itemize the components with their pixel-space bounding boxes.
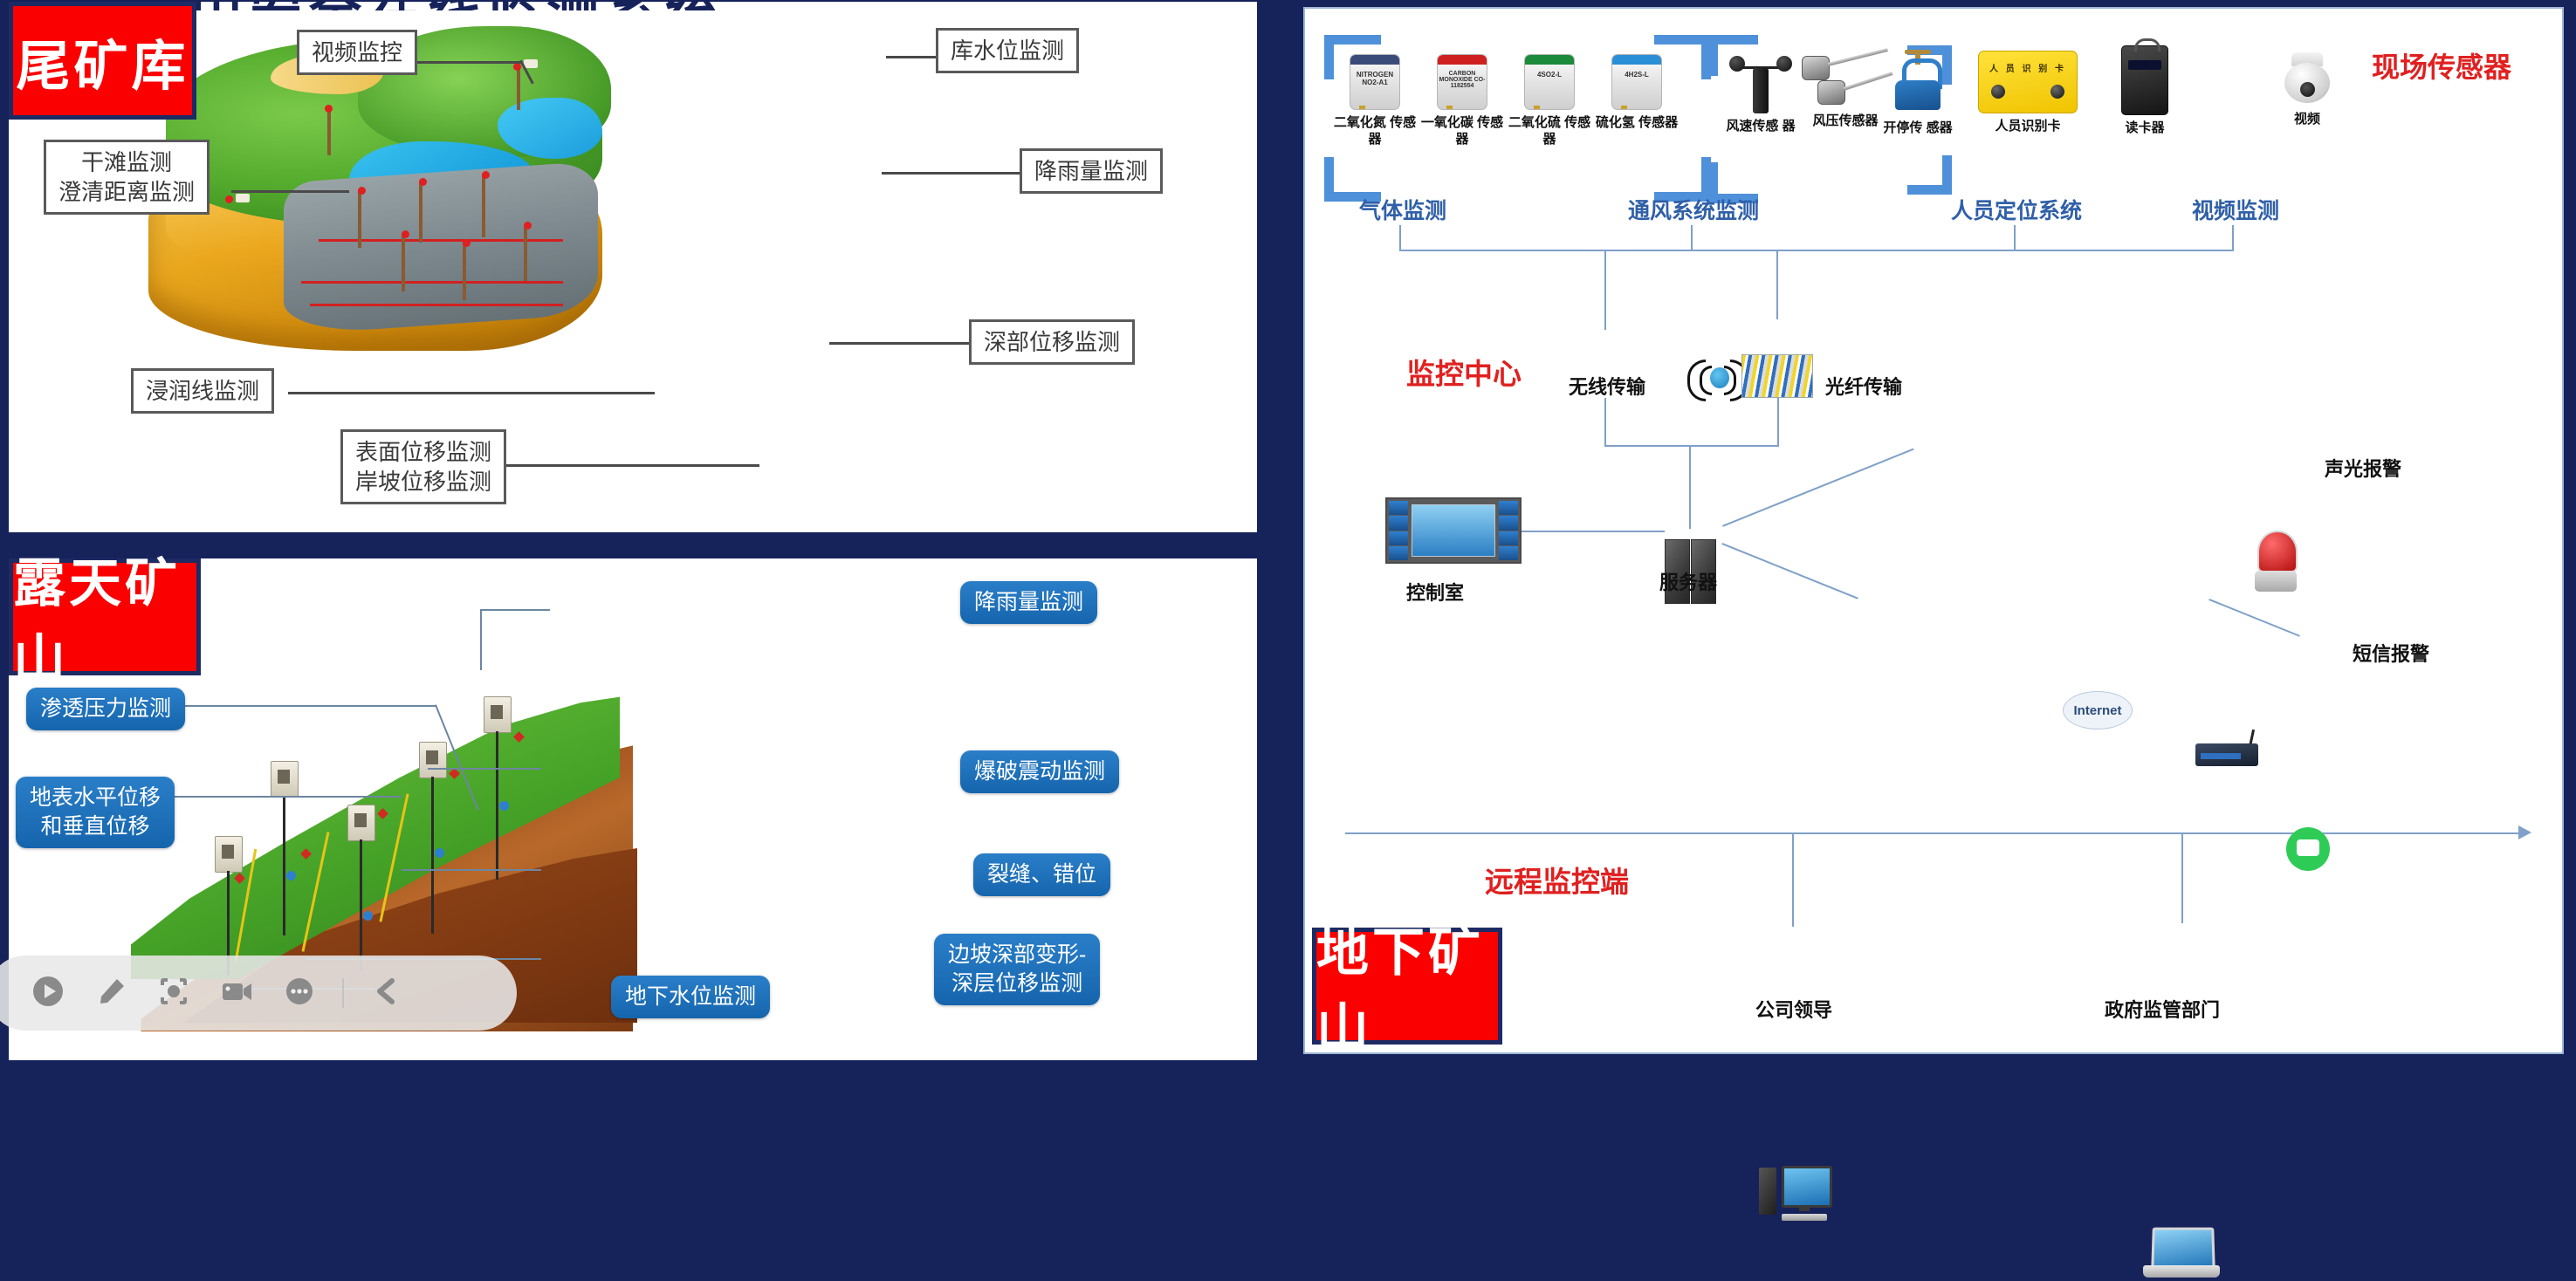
personnel-id-card-icon: 人 员 识 别 卡: [1978, 51, 2078, 113]
play-icon: [31, 974, 65, 1013]
sensor-co-label: 一氧化碳 传感器: [1417, 114, 1508, 147]
video-camera-sensor: 视频: [2262, 52, 2353, 127]
sensor-so2-label: 二氧化硫 传感器: [1504, 114, 1595, 147]
toolbar-divider: [342, 978, 344, 1008]
drop-to-desktop: [1792, 832, 1794, 927]
remote-bus-arrow: [2518, 825, 2531, 839]
leader-surface-displacement: [498, 464, 759, 467]
card-reader-icon: [2121, 45, 2168, 115]
category-video-monitoring: 视频监测: [2192, 194, 2279, 225]
label-deep-displacement: 深部位移监测: [969, 319, 1135, 365]
junction-h: [1604, 445, 1779, 447]
video-button[interactable]: [216, 973, 257, 1013]
category-ventilation: 通风系统监测: [1628, 194, 1759, 225]
audible-visual-alarm-label: 声光报警: [2325, 454, 2401, 482]
company-leader-label: 公司领导: [1755, 995, 1832, 1023]
leader-crack-h: [402, 869, 541, 871]
internet-cloud-icon[interactable]: Internet: [2063, 691, 2133, 730]
wireless-down: [1604, 398, 1606, 445]
label-seepage-pressure: 渗透压力监测: [26, 688, 185, 730]
drop-to-laptop: [2181, 832, 2183, 923]
label-saturation-line: 浸润线监测: [131, 368, 274, 414]
focus-scan-icon: [156, 974, 191, 1013]
leader-rainfall-op-h: [480, 609, 550, 611]
stem-vent: [1691, 225, 1693, 250]
leader-saturation-line: [288, 392, 655, 394]
stem-personnel: [2014, 225, 2016, 250]
sensor-no2-label: 二氧化氮 传感器: [1329, 114, 1420, 147]
sensor-h2s-label: 硫化氢 传感器: [1591, 114, 1682, 131]
bus-horizontal: [1593, 250, 2234, 251]
sensor-start-stop-label: 开停传 感器: [1872, 120, 1963, 136]
sensor-start-stop: 开停传 感器: [1872, 45, 1963, 136]
share-back-icon: [369, 974, 404, 1013]
cut-off-headline: 矿山安全在线监测系统: [131, 0, 742, 10]
chip-open-pit-mine: 露天矿山: [9, 558, 201, 675]
label-surface-bank-displacement: 表面位移监测 岸坡位移监测: [340, 429, 506, 504]
server-to-alarm-lamp: [1722, 449, 1914, 527]
leader-rainfall: [882, 172, 1026, 175]
sensor-co: CARBON MONOXIDE CO-1182554 一氧化碳 传感器: [1417, 54, 1508, 147]
laptop-icon: [2141, 1227, 2222, 1281]
remote-bus: [1345, 832, 2524, 834]
sensor-no2: NITROGEN NO2-A1 二氧化氮 传感器: [1329, 54, 1420, 147]
leader-surface-disp-h: [166, 796, 402, 798]
no2-sensor-icon: NITROGEN NO2-A1: [1350, 54, 1400, 110]
category-gas-monitoring: 气体监测: [1359, 194, 1446, 225]
label-crack-dislocation: 裂缝、错位: [973, 853, 1110, 896]
label-groundwater-level: 地下水位监测: [611, 976, 770, 1018]
co-sensor-icon: CARBON MONOXIDE CO-1182554: [1437, 54, 1487, 110]
label-slope-deep-deform: 边坡深部变形- 深层位移监测: [934, 934, 1100, 1005]
router-to-sms: [2208, 599, 2300, 637]
fiber-transmission-label: 光纤传输: [1825, 372, 1902, 400]
label-dry-beach-clarification: 干滩监测 澄清距离监测: [44, 140, 210, 215]
label-video-monitor: 视频监控: [297, 30, 417, 75]
government-supervision-label: 政府监管部门: [2105, 995, 2220, 1023]
internet-label: Internet: [2073, 703, 2121, 718]
sms-bubble-icon: [2286, 827, 2330, 871]
more-dots-icon: [282, 974, 317, 1013]
label-surface-displacement: 地表水平位移 和垂直位移: [16, 777, 175, 848]
scan-button[interactable]: [154, 973, 194, 1013]
edit-button[interactable]: [91, 973, 131, 1013]
card-reader-label: 读卡器: [2099, 120, 2190, 136]
server-to-router: [1721, 543, 1858, 599]
label-rainfall-openpit: 降雨量监测: [960, 581, 1097, 624]
alarm-lamp-icon: [2253, 531, 2298, 592]
drop-to-wireless: [1604, 250, 1606, 330]
stem-gas: [1399, 225, 1401, 250]
desktop-computer-icon: [1759, 1166, 1831, 1223]
more-button[interactable]: [279, 973, 319, 1013]
leader-blast-h: [428, 768, 541, 770]
so2-sensor-icon: 4SO2-L: [1524, 54, 1575, 110]
category-personnel-positioning: 人员定位系统: [1951, 194, 2082, 225]
fiber-bundle-icon: [1741, 354, 1813, 398]
leader-deep-displacement: [829, 342, 978, 345]
drop-to-fiber: [1776, 250, 1778, 319]
left-column: 矿山安全在线监测系统: [0, 0, 1292, 1062]
wall-to-server: [1520, 531, 1665, 532]
monitoring-center-title: 监控中心: [1406, 351, 1522, 393]
leader-dry-beach: [231, 190, 349, 193]
right-column: NITROGEN NO2-A1 二氧化氮 传感器 CARBON MONOXIDE…: [1292, 0, 2576, 1062]
label-rainfall: 降雨量监测: [1020, 148, 1163, 194]
control-room-label: 控制室: [1406, 578, 1464, 606]
down-to-server: [1689, 445, 1691, 529]
label-reservoir-water-level: 库水位监测: [936, 28, 1079, 73]
leader-rainfall-op-v: [480, 609, 482, 670]
anemometer-icon: [1729, 45, 1792, 113]
pencil-icon: [93, 974, 128, 1013]
ptz-camera-icon: [2279, 52, 2335, 106]
wireless-transmission-label: 无线传输: [1569, 372, 1645, 400]
bus-left: [1399, 250, 1593, 251]
media-toolbar[interactable]: [0, 956, 517, 1031]
chip-tailings-dam: 尾矿库: [9, 2, 196, 120]
chip-underground-mine: 地下矿山: [1312, 928, 1502, 1045]
bracket-vent-br: [1907, 155, 1952, 195]
label-blast-vibration: 爆破震动监测: [960, 750, 1119, 793]
underground-mine-panel: NITROGEN NO2-A1 二氧化氮 传感器 CARBON MONOXIDE…: [1303, 7, 2564, 1054]
start-stop-sensor-icon: [1890, 45, 1946, 115]
card-reader: 读卡器: [2099, 45, 2190, 136]
fiber-down: [1777, 398, 1779, 447]
personnel-id-card: 人 员 识 别 卡 人员识别卡: [1968, 51, 2087, 134]
field-sensors-title: 现场传感器: [2372, 45, 2511, 86]
video-camera-icon: [219, 974, 254, 1013]
personnel-id-card-label: 人员识别卡: [1968, 118, 2087, 134]
sensor-h2s: 4H2S-L 硫化氢 传感器: [1591, 54, 1682, 131]
leader-seepage-h: [183, 705, 436, 707]
h2s-sensor-icon: 4H2S-L: [1611, 54, 1662, 110]
sms-router-icon: [2195, 731, 2258, 766]
video-camera-label: 视频: [2262, 111, 2353, 127]
server-label: 服务器: [1659, 567, 1717, 595]
stem-video: [2232, 225, 2234, 250]
remote-terminal-title: 远程监控端: [1485, 859, 1629, 901]
video-wall-icon: [1385, 497, 1522, 564]
sms-alarm-label: 短信报警: [2353, 639, 2429, 667]
sensor-so2: 4SO2-L 二氧化硫 传感器: [1504, 54, 1595, 147]
share-button[interactable]: [367, 973, 407, 1013]
play-button[interactable]: [28, 973, 68, 1013]
